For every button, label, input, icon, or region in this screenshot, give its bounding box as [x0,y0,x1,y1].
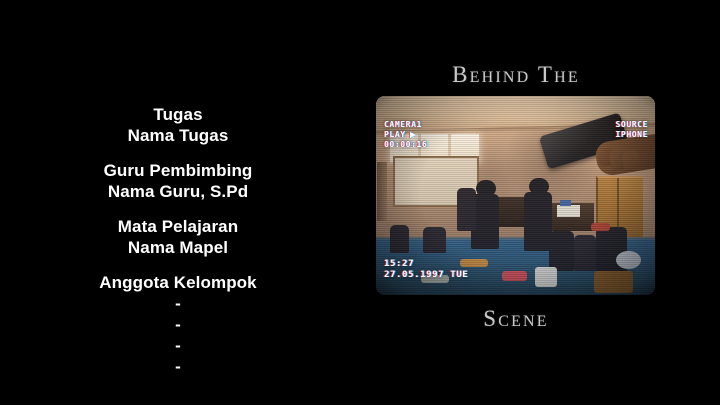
hud-play-label: PLAY [384,130,406,140]
member-item: - [18,335,338,356]
scene-object [616,251,641,269]
hud-camera-label: CAMERA1 [384,120,427,130]
scene-object [502,271,527,281]
credit-subtitle: Nama Mapel [18,237,338,258]
member-item: - [18,314,338,335]
scene-object [535,267,557,287]
scene-person [549,231,574,271]
credit-group: Guru Pembimbing Nama Guru, S.Pd [18,160,338,202]
hud-clock-time: 15:27 [384,259,468,270]
title-top-line: Behind The [376,62,656,88]
title-bottom-line: Scene [376,306,656,332]
members-heading: Anggota Kelompok [18,272,338,293]
credit-heading: Guru Pembimbing [18,160,338,181]
hud-source: SOURCE IPHONE [616,120,649,140]
members-group: Anggota Kelompok - - - - [18,272,338,377]
title-slide: Tugas Nama Tugas Guru Pembimbing Nama Gu… [0,0,720,405]
hud-camera-status: CAMERA1 PLAY 00:00:16 [384,120,427,150]
member-item: - [18,356,338,377]
hud-clock: 15:27 27.05.1997 TUE [384,259,468,281]
scene-finger [622,150,640,171]
scene-person [390,225,410,253]
scene-paper [557,205,579,217]
credit-heading: Mata Pelajaran [18,216,338,237]
credit-subtitle: Nama Tugas [18,125,338,146]
credit-subtitle: Nama Guru, S.Pd [18,181,338,202]
credit-group: Mata Pelajaran Nama Mapel [18,216,338,258]
hud-timecode: 00:00:16 [384,140,427,150]
scene-blue-object [560,200,571,206]
play-triangle-icon [410,132,416,138]
scene-object [594,271,633,293]
scene-door-edge [377,162,387,222]
scene-person [524,192,552,252]
credits-block: Tugas Nama Tugas Guru Pembimbing Nama Gu… [18,104,338,377]
scene-person [457,188,477,232]
credit-heading: Tugas [18,104,338,125]
hud-clock-date: 27.05.1997 TUE [384,270,468,281]
hud-play-row: PLAY [384,130,427,140]
scene-person [423,227,445,253]
scene-person [574,235,596,271]
hud-source-label: SOURCE [616,120,649,130]
video-frame[interactable]: CAMERA1 PLAY 00:00:16 SOURCE IPHONE 15:2… [376,96,655,295]
hud-source-value: IPHONE [616,130,649,140]
credit-group: Tugas Nama Tugas [18,104,338,146]
scene-object [591,223,611,231]
member-item: - [18,293,338,314]
